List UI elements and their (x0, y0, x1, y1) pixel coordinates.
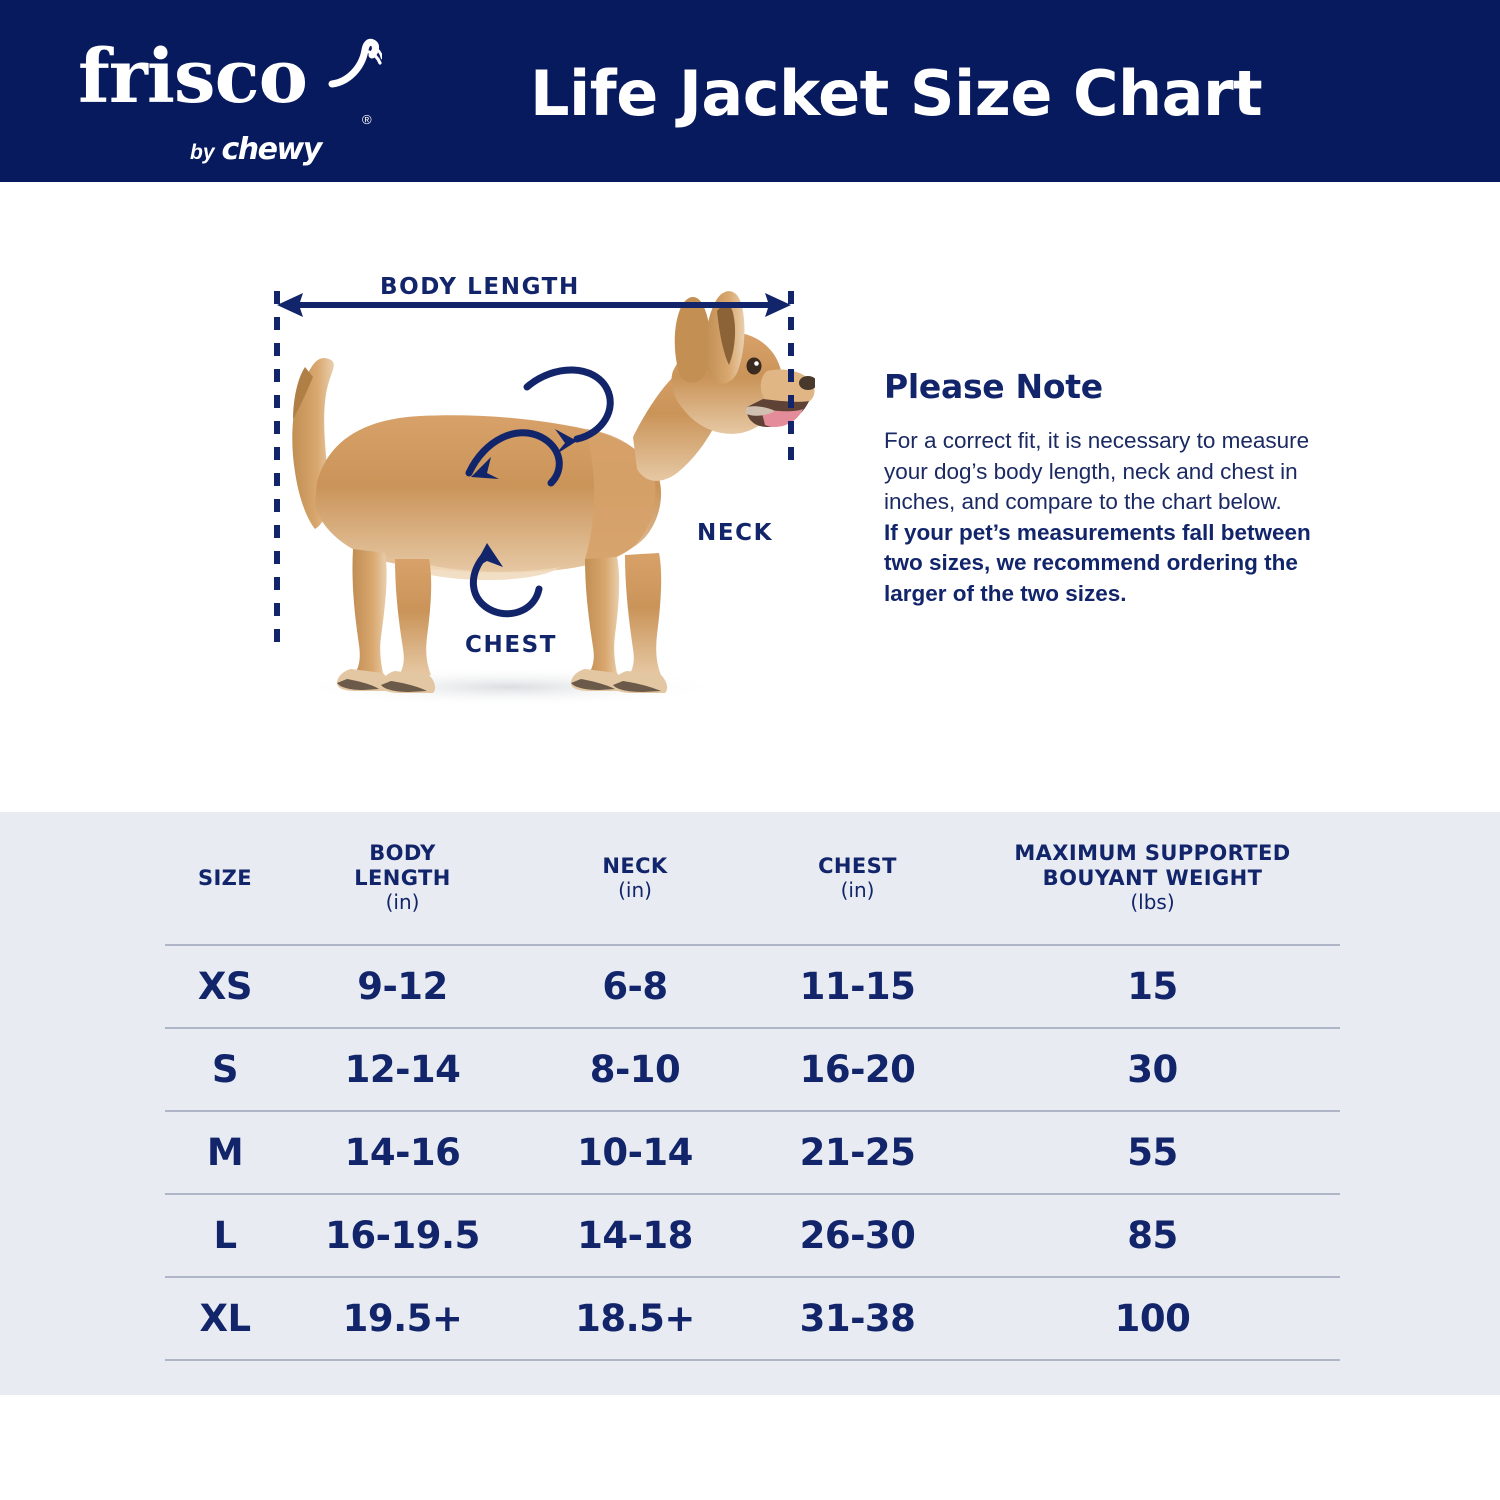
brand-wordmark: frisco (78, 40, 307, 114)
cell-size: M (165, 1111, 285, 1194)
please-note-paragraph: For a correct fit, it is necessary to me… (884, 426, 1354, 518)
table-header-row: SIZE BODY LENGTH (in) NECK (in) CHEST (i… (165, 812, 1340, 945)
cell-weight: 100 (965, 1277, 1340, 1360)
please-note-heading: Please Note (884, 367, 1354, 406)
cell-neck: 6-8 (520, 945, 750, 1028)
cell-body_length: 12-14 (285, 1028, 520, 1111)
cell-neck: 8-10 (520, 1028, 750, 1111)
column-header-weight-line1: MAXIMUM SUPPORTED (1014, 841, 1290, 865)
header-band: frisco ® by chewy Life Jacket Size Chart (0, 0, 1500, 182)
cell-size: S (165, 1028, 285, 1111)
size-table-section: SIZE BODY LENGTH (in) NECK (in) CHEST (i… (0, 812, 1500, 1395)
dog-front-leg-near (625, 553, 661, 675)
size-chart-table-head: SIZE BODY LENGTH (in) NECK (in) CHEST (i… (165, 812, 1340, 945)
table-row: S12-148-1016-2030 (165, 1028, 1340, 1111)
dog-eye (747, 358, 762, 375)
column-header-neck-label: NECK (602, 854, 667, 878)
swoosh-icon (322, 38, 382, 90)
cell-neck: 18.5+ (520, 1277, 750, 1360)
please-note-block: Please Note For a correct fit, it is nec… (884, 367, 1354, 610)
column-header-weight-line2: BOUYANT WEIGHT (1043, 866, 1263, 890)
chewy-wordmark: chewy (222, 132, 321, 167)
brand-by-label: by (190, 141, 215, 165)
table-row: XS9-126-811-1515 (165, 945, 1340, 1028)
cell-chest: 21-25 (750, 1111, 965, 1194)
cell-weight: 30 (965, 1028, 1340, 1111)
please-note-emphasis: If your pet’s measurements fall between … (884, 518, 1354, 610)
column-header-weight-unit: (lbs) (965, 891, 1340, 915)
registered-trademark-icon: ® (362, 112, 372, 127)
cell-neck: 14-18 (520, 1194, 750, 1277)
cell-chest: 16-20 (750, 1028, 965, 1111)
cell-size: XL (165, 1277, 285, 1360)
cell-neck: 10-14 (520, 1111, 750, 1194)
dog-hind-leg-near (395, 559, 431, 675)
cell-size: L (165, 1194, 285, 1277)
cell-chest: 26-30 (750, 1194, 965, 1277)
chest-label: CHEST (465, 632, 557, 658)
cell-body_length: 14-16 (285, 1111, 520, 1194)
table-row: L16-19.514-1826-3085 (165, 1194, 1340, 1277)
column-header-size: SIZE (165, 812, 285, 945)
column-header-chest-unit: (in) (750, 879, 965, 903)
dog-front-leg-far (585, 557, 619, 673)
brand-subline: by chewy (190, 132, 321, 167)
column-header-neck-unit: (in) (520, 879, 750, 903)
measurement-diagram-area: BODY LENGTH NECK CHEST Please Note For a… (0, 182, 1500, 812)
table-row: XL19.5+18.5+31-38100 (165, 1277, 1340, 1360)
column-header-weight: MAXIMUM SUPPORTED BOUYANT WEIGHT (lbs) (965, 812, 1340, 945)
column-header-body-length-line2: LENGTH (354, 866, 450, 890)
cell-body_length: 19.5+ (285, 1277, 520, 1360)
table-row: M14-1610-1421-2555 (165, 1111, 1340, 1194)
cell-body_length: 9-12 (285, 945, 520, 1028)
dog-hind-leg-far (352, 549, 386, 673)
page-title: Life Jacket Size Chart (530, 57, 1262, 130)
column-header-body-length-line1: BODY (369, 841, 436, 865)
column-header-chest-label: CHEST (818, 854, 897, 878)
cell-body_length: 16-19.5 (285, 1194, 520, 1277)
column-header-neck: NECK (in) (520, 812, 750, 945)
cell-weight: 85 (965, 1194, 1340, 1277)
cell-size: XS (165, 945, 285, 1028)
size-chart-table-body: XS9-126-811-1515S12-148-1016-2030M14-161… (165, 945, 1340, 1360)
dog-ear-far (675, 297, 711, 383)
column-header-body-length-unit: (in) (285, 891, 520, 915)
column-header-chest: CHEST (in) (750, 812, 965, 945)
body-length-label: BODY LENGTH (380, 274, 580, 300)
column-header-body-length: BODY LENGTH (in) (285, 812, 520, 945)
cell-weight: 55 (965, 1111, 1340, 1194)
cell-chest: 31-38 (750, 1277, 965, 1360)
column-header-size-label: SIZE (198, 866, 252, 890)
neck-label: NECK (697, 520, 773, 546)
cell-chest: 11-15 (750, 945, 965, 1028)
size-chart-table: SIZE BODY LENGTH (in) NECK (in) CHEST (i… (165, 812, 1340, 1361)
cell-weight: 15 (965, 945, 1340, 1028)
frisco-brand-logo: frisco ® by chewy (78, 40, 378, 160)
